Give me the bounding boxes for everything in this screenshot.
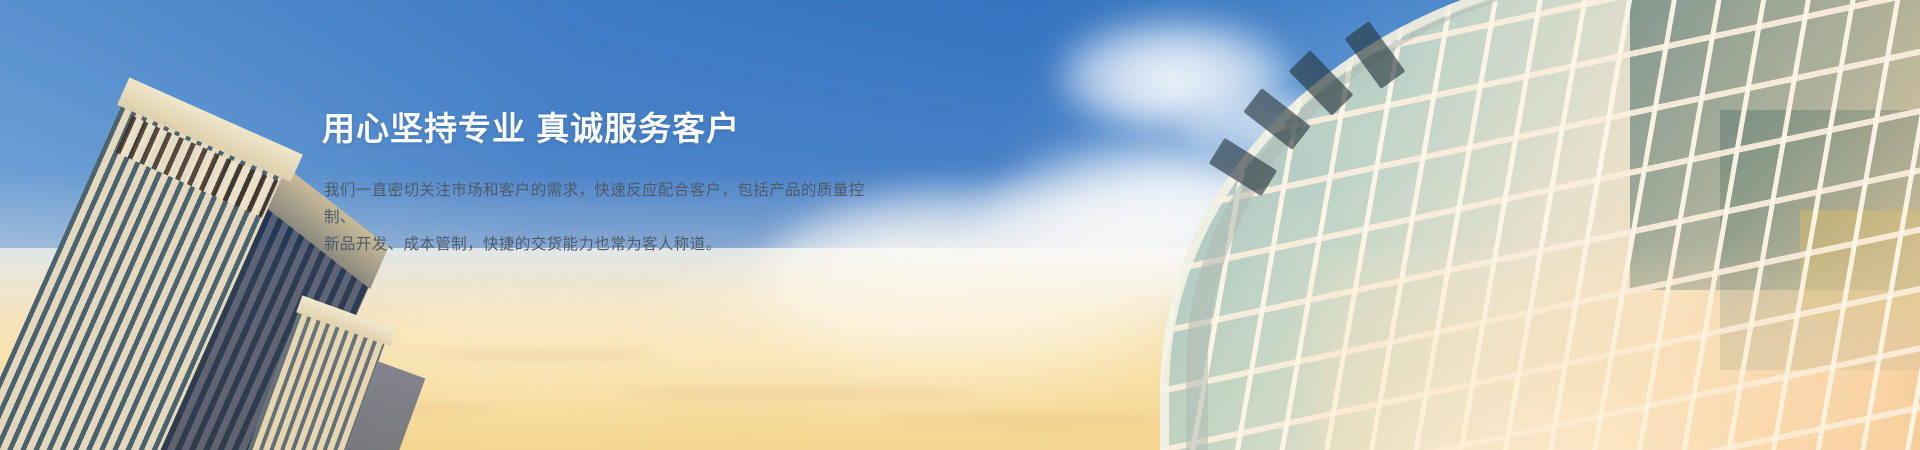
left-skyscraper-lit-face <box>0 103 283 450</box>
glass-reflection-gold <box>1800 210 1920 320</box>
left-skyscraper-vents <box>116 116 278 218</box>
horizontal-mullions <box>1160 0 1920 450</box>
horizon-streak <box>180 406 500 412</box>
sunlight-glow <box>1310 260 1910 450</box>
secondary-shadow-face <box>333 361 425 450</box>
vertical-mullions <box>1160 0 1920 450</box>
glass-reflection-lower <box>1720 110 1920 370</box>
right-glass-tower <box>1120 0 1920 450</box>
secondary-roof <box>296 295 396 346</box>
cloud-lower-left <box>300 300 780 450</box>
horizon-streak <box>20 372 280 378</box>
horizon-streak <box>620 390 980 396</box>
glass-tower-body <box>1160 0 1920 450</box>
tower-window-slot <box>1289 50 1354 115</box>
left-skyscraper-secondary <box>249 296 435 450</box>
horizon-streak <box>430 352 650 358</box>
cloud-top-right <box>1060 20 1290 130</box>
banner-headline: 用心坚持专业 真诚服务客户 <box>322 108 882 151</box>
banner-subcopy-line-1: 我们一直密切关注市场和客户的需求，快速反应配合客户，包括产品的质量控制、 <box>324 177 882 231</box>
glass-tower-rim <box>1160 0 1920 450</box>
left-skyscraper-roof <box>117 77 303 182</box>
secondary-lit-face <box>247 311 385 450</box>
banner-subcopy-line-2: 新品开发、成本管制，快捷的交货能力也常为客人称道。 <box>324 231 882 258</box>
sky-gradient-upper <box>0 0 1920 248</box>
hero-banner: 用心坚持专业 真诚服务客户 我们一直密切关注市场和客户的需求，快速反应配合客户，… <box>0 0 1920 450</box>
tower-window-slot <box>1243 88 1310 150</box>
tower-window-slot <box>1209 138 1277 196</box>
glass-reflection-upper <box>1630 0 1920 290</box>
glass-tower-inner-rim <box>1186 0 1920 450</box>
banner-subcopy: 我们一直密切关注市场和客户的需求，快速反应配合客户，包括产品的质量控制、 新品开… <box>324 177 882 258</box>
cloud-wisp <box>1180 95 1420 165</box>
sunset-haze <box>0 171 1920 450</box>
cloud-upper-center <box>980 140 1310 315</box>
horizon-streak <box>880 418 1180 424</box>
tower-window-slot <box>1345 21 1406 89</box>
banner-copy: 用心坚持专业 真诚服务客户 我们一直密切关注市场和客户的需求，快速反应配合客户，… <box>322 108 882 258</box>
cloud-lower-center <box>640 250 1160 430</box>
